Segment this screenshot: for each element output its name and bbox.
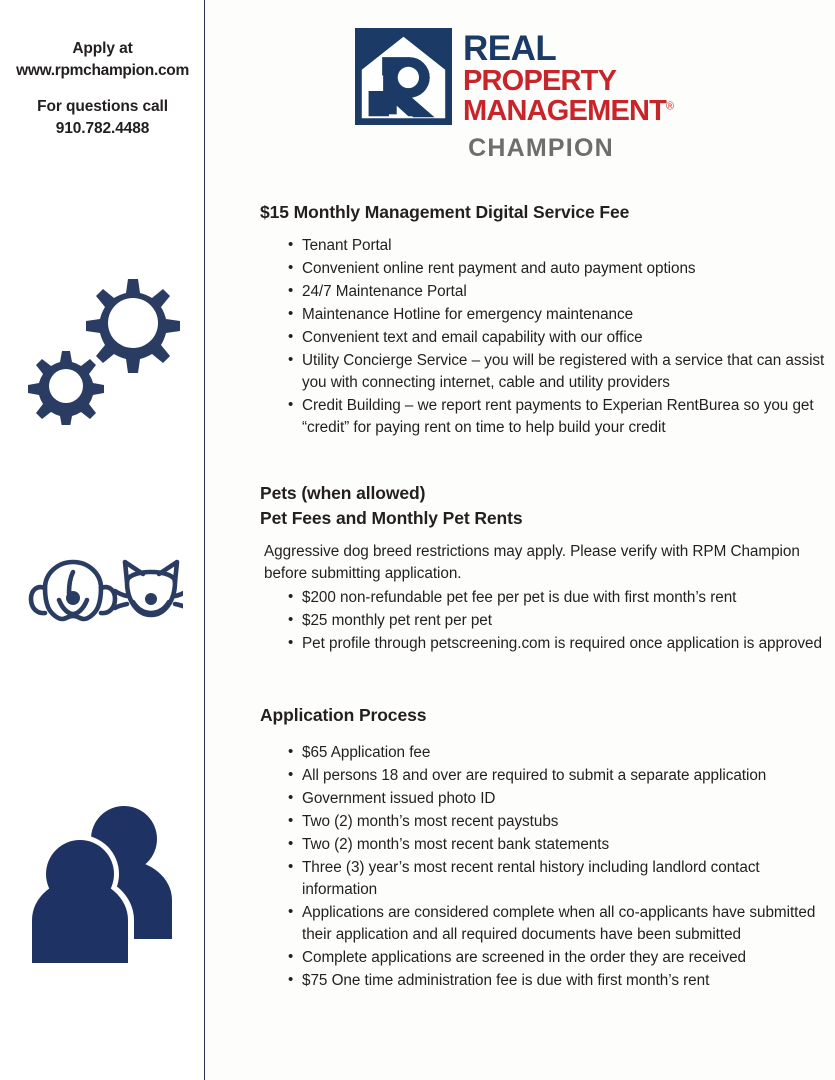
pets-icon-slot — [0, 545, 205, 640]
sidebar-contact-block: Apply at www.rpmchampion.com For questio… — [0, 0, 205, 141]
bullet-list-digital-service-fee: Tenant Portal Convenient online rent pay… — [260, 235, 827, 439]
section-title-pets: Pets (when allowed) — [260, 481, 827, 506]
list-item: Utility Concierge Service – you will be … — [288, 350, 827, 394]
list-item: $200 non-refundable pet fee per pet is d… — [288, 587, 827, 609]
section-digital-service-fee: $15 Monthly Management Digital Service F… — [260, 200, 827, 439]
rpm-logo: REAL PROPERTY MANAGEMENT® CHAMPION — [355, 28, 675, 180]
list-item: Two (2) month’s most recent bank stateme… — [288, 834, 827, 856]
list-item: All persons 18 and over are required to … — [288, 765, 827, 787]
list-item: Complete applications are screened in th… — [288, 947, 827, 969]
list-item: $25 monthly pet rent per pet — [288, 610, 827, 632]
section-subtitle-pet-fees: Pet Fees and Monthly Pet Rents — [260, 506, 827, 531]
registered-mark-icon: ® — [666, 100, 673, 112]
bullet-list-application-process: $65 Application fee All persons 18 and o… — [260, 742, 827, 992]
main-content: REAL PROPERTY MANAGEMENT® CHAMPION $15 M… — [205, 0, 835, 1080]
sidebar: Apply at www.rpmchampion.com For questio… — [0, 0, 205, 1080]
rpm-house-r-logo-icon — [355, 28, 452, 125]
apply-website-url[interactable]: www.rpmchampion.com — [8, 60, 197, 82]
logo-management-word: MANAGEMENT — [463, 95, 666, 127]
list-item: Two (2) month’s most recent paystubs — [288, 811, 827, 833]
list-item: Maintenance Hotline for emergency mainte… — [288, 304, 827, 326]
list-item: Tenant Portal — [288, 235, 827, 257]
gears-icon-slot — [0, 252, 205, 427]
list-item: $65 Application fee — [288, 742, 827, 764]
pets-restriction-note: Aggressive dog breed restrictions may ap… — [264, 541, 827, 585]
bullet-list-pets: $200 non-refundable pet fee per pet is d… — [260, 587, 827, 655]
document-body: $15 Monthly Management Digital Service F… — [260, 200, 827, 993]
gears-icon — [18, 255, 188, 425]
section-title-application-process: Application Process — [260, 703, 827, 728]
section-pets: Pets (when allowed) Pet Fees and Monthly… — [260, 481, 827, 655]
section-title-group-pets: Pets (when allowed) Pet Fees and Monthly… — [260, 481, 827, 531]
list-item: Convenient online rent payment and auto … — [288, 258, 827, 280]
list-item: Government issued photo ID — [288, 788, 827, 810]
list-item: Three (3) year’s most recent rental hist… — [288, 857, 827, 901]
flyer-page: Apply at www.rpmchampion.com For questio… — [0, 0, 835, 1080]
questions-label: For questions call — [8, 96, 197, 118]
list-item: Credit Building – we report rent payment… — [288, 395, 827, 439]
people-icon-slot — [0, 788, 205, 983]
list-item: Applications are considered complete whe… — [288, 902, 827, 946]
section-title-digital-service-fee: $15 Monthly Management Digital Service F… — [260, 200, 827, 225]
logo-text-management: MANAGEMENT® — [463, 96, 673, 126]
logo-text-champion: CHAMPION — [407, 134, 675, 163]
section-application-process: Application Process $65 Application fee … — [260, 703, 827, 992]
phone-number[interactable]: 910.782.4488 — [8, 118, 197, 140]
people-icon — [23, 796, 183, 976]
pets-icon — [23, 552, 183, 634]
questions-block: For questions call 910.782.4488 — [8, 96, 197, 141]
list-item: Convenient text and email capability wit… — [288, 327, 827, 349]
logo-text-property: PROPERTY — [463, 66, 673, 96]
list-item: 24/7 Maintenance Portal — [288, 281, 827, 303]
apply-at-label: Apply at — [8, 38, 197, 60]
logo-text-real: REAL — [463, 32, 673, 66]
list-item: $75 One time administration fee is due w… — [288, 970, 827, 992]
list-item: Pet profile through petscreening.com is … — [288, 633, 827, 655]
